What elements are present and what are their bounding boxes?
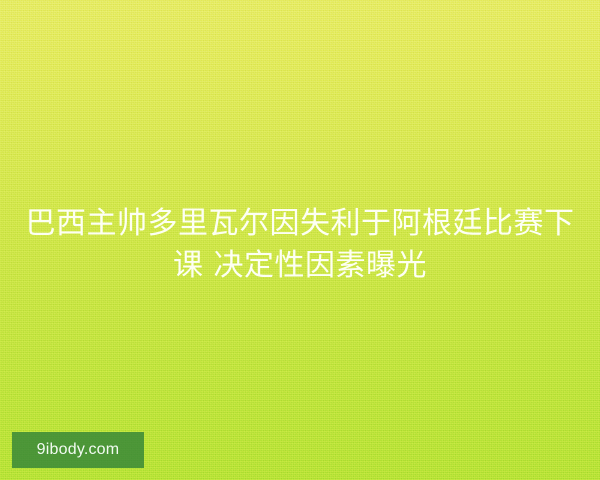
watermark-site-label: 9ibody.com xyxy=(37,442,120,458)
watermark-badge: 9ibody.com xyxy=(12,432,144,468)
thumbnail-canvas: 巴西主帅多里瓦尔因失利于阿根廷比赛下课 决定性因素曝光 9ibody.com xyxy=(0,0,600,480)
headline-block: 巴西主帅多里瓦尔因失利于阿根廷比赛下课 决定性因素曝光 xyxy=(0,203,600,287)
headline-title: 巴西主帅多里瓦尔因失利于阿根廷比赛下课 决定性因素曝光 xyxy=(24,203,576,287)
